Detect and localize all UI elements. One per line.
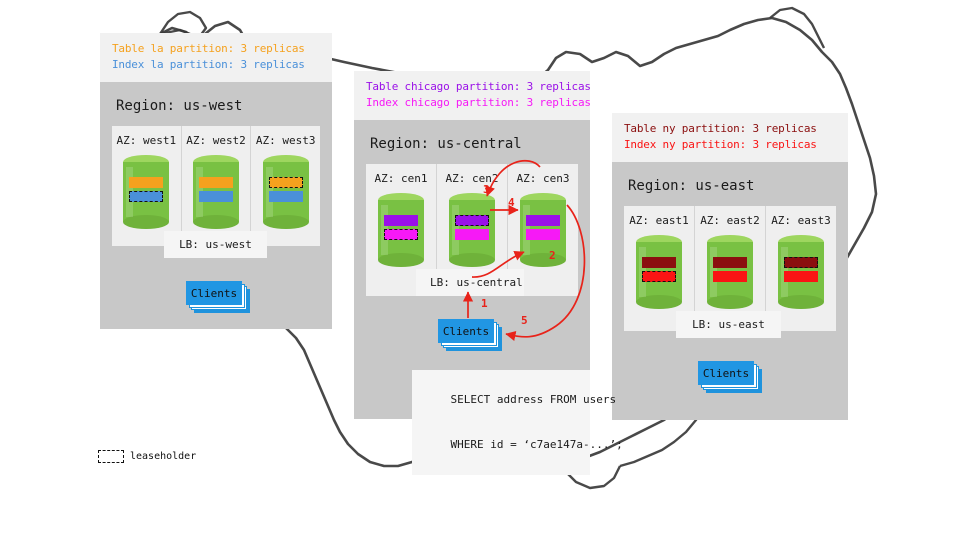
cylinder-bottom — [520, 253, 566, 267]
flow-step-label-2: 2 — [549, 249, 556, 262]
sql-line-1: SELECT address FROM users — [451, 393, 617, 406]
replica-bar-index — [784, 271, 818, 282]
az-label-east1: AZ: east1 — [624, 214, 694, 227]
az-cell-west1[interactable]: AZ: west1 — [112, 126, 182, 246]
replica-bar-index — [199, 191, 233, 202]
cylinder-bottom — [778, 295, 824, 309]
replica-bar-index — [455, 229, 489, 240]
clients-label-us-west: Clients — [186, 281, 242, 305]
replica-bars-east2 — [713, 257, 747, 285]
replica-bars-west1 — [129, 177, 163, 205]
region-panel-us-central: Table chicago partition: 3 replicas Inde… — [354, 71, 590, 419]
node-cylinder-cen1[interactable] — [378, 193, 424, 267]
node-cylinder-cen2[interactable] — [449, 193, 495, 267]
load-balancer-us-east[interactable]: LB: us-east — [676, 311, 781, 338]
replica-bar-index — [269, 191, 303, 202]
flow-step-label-3: 3 — [483, 183, 490, 196]
sql-query-box: SELECT address FROM users WHERE id = ‘c7… — [412, 370, 590, 475]
replica-bar-index-leaseholder — [384, 229, 418, 240]
az-label-east3: AZ: east3 — [766, 214, 836, 227]
node-cylinder-west2[interactable] — [193, 155, 239, 229]
az-label-west1: AZ: west1 — [112, 134, 181, 147]
leaseholder-dashed-swatch-icon — [98, 450, 124, 463]
cylinder-bottom — [378, 253, 424, 267]
replica-bar-index-leaseholder — [642, 271, 676, 282]
cylinder-bottom — [123, 215, 169, 229]
cylinder-bottom — [636, 295, 682, 309]
clients-label-us-central: Clients — [438, 319, 494, 343]
replica-bars-cen1 — [384, 215, 418, 243]
replica-bar-index — [713, 271, 747, 282]
replica-bars-cen3 — [526, 215, 560, 243]
cylinder-bottom — [707, 295, 753, 309]
az-cell-west3[interactable]: AZ: west3 — [251, 126, 320, 246]
replica-bars-west3 — [269, 177, 303, 205]
clients-us-east[interactable]: Clients — [698, 361, 758, 387]
clients-label-us-east: Clients — [698, 361, 754, 385]
replica-bar-table-leaseholder — [455, 215, 489, 226]
legend-line-table: Table ny partition: 3 replicas — [624, 121, 836, 137]
legend-line-table: Table chicago partition: 3 replicas — [366, 79, 578, 95]
node-cylinder-east1[interactable] — [636, 235, 682, 309]
legend-line-index: Index ny partition: 3 replicas — [624, 137, 836, 153]
clients-us-west[interactable]: Clients — [186, 281, 246, 307]
replica-bar-table — [526, 215, 560, 226]
region-title-us-west: Region: us-west — [116, 98, 318, 114]
replica-bar-table — [713, 257, 747, 268]
replica-bar-table — [642, 257, 676, 268]
node-cylinder-west3[interactable] — [263, 155, 309, 229]
replica-bar-index — [526, 229, 560, 240]
replica-bar-table — [384, 215, 418, 226]
node-cylinder-cen3[interactable] — [520, 193, 566, 267]
diagram-canvas: Table la partition: 3 replicas Index la … — [0, 0, 960, 540]
replica-bars-cen2 — [455, 215, 489, 243]
region-title-us-central: Region: us-central — [370, 136, 576, 152]
node-cylinder-east3[interactable] — [778, 235, 824, 309]
az-strip-us-west: AZ: west1 AZ: west2 — [112, 126, 320, 246]
replica-bars-west2 — [199, 177, 233, 205]
partition-legend-us-east: Table ny partition: 3 replicas Index ny … — [612, 113, 848, 162]
replica-bars-east3 — [784, 257, 818, 285]
flow-step-label-5: 5 — [521, 314, 528, 327]
flow-step-label-4: 4 — [508, 196, 515, 209]
flow-step-label-1: 1 — [481, 297, 488, 310]
load-balancer-us-central[interactable]: LB: us-central — [416, 269, 524, 296]
partition-legend-us-central: Table chicago partition: 3 replicas Inde… — [354, 71, 590, 120]
node-cylinder-west1[interactable] — [123, 155, 169, 229]
cylinder-bottom — [193, 215, 239, 229]
clients-us-central[interactable]: Clients — [438, 319, 498, 345]
replica-bar-table-leaseholder — [784, 257, 818, 268]
load-balancer-us-west[interactable]: LB: us-west — [164, 231, 267, 258]
legend-line-table: Table la partition: 3 replicas — [112, 41, 320, 57]
partition-legend-us-west: Table la partition: 3 replicas Index la … — [100, 33, 332, 82]
az-label-cen2: AZ: cen2 — [437, 172, 507, 185]
az-label-west2: AZ: west2 — [182, 134, 251, 147]
legend-line-index: Index chicago partition: 3 replicas — [366, 95, 578, 111]
cylinder-bottom — [449, 253, 495, 267]
legend-line-index: Index la partition: 3 replicas — [112, 57, 320, 73]
cylinder-bottom — [263, 215, 309, 229]
node-cylinder-east2[interactable] — [707, 235, 753, 309]
az-label-cen1: AZ: cen1 — [366, 172, 436, 185]
replica-bar-table — [199, 177, 233, 188]
sql-line-2: WHERE id = ‘c7ae147a-...’; — [451, 438, 623, 451]
replica-bar-index-leaseholder — [129, 191, 163, 202]
az-label-cen3: AZ: cen3 — [508, 172, 578, 185]
replica-bar-table-leaseholder — [269, 177, 303, 188]
region-title-us-east: Region: us-east — [628, 178, 834, 194]
az-label-west3: AZ: west3 — [251, 134, 320, 147]
leaseholder-legend-label: leaseholder — [130, 451, 196, 462]
az-cell-west2[interactable]: AZ: west2 — [182, 126, 252, 246]
leaseholder-legend: leaseholder — [98, 450, 196, 463]
replica-bar-table — [129, 177, 163, 188]
az-label-east2: AZ: east2 — [695, 214, 765, 227]
replica-bars-east1 — [642, 257, 676, 285]
